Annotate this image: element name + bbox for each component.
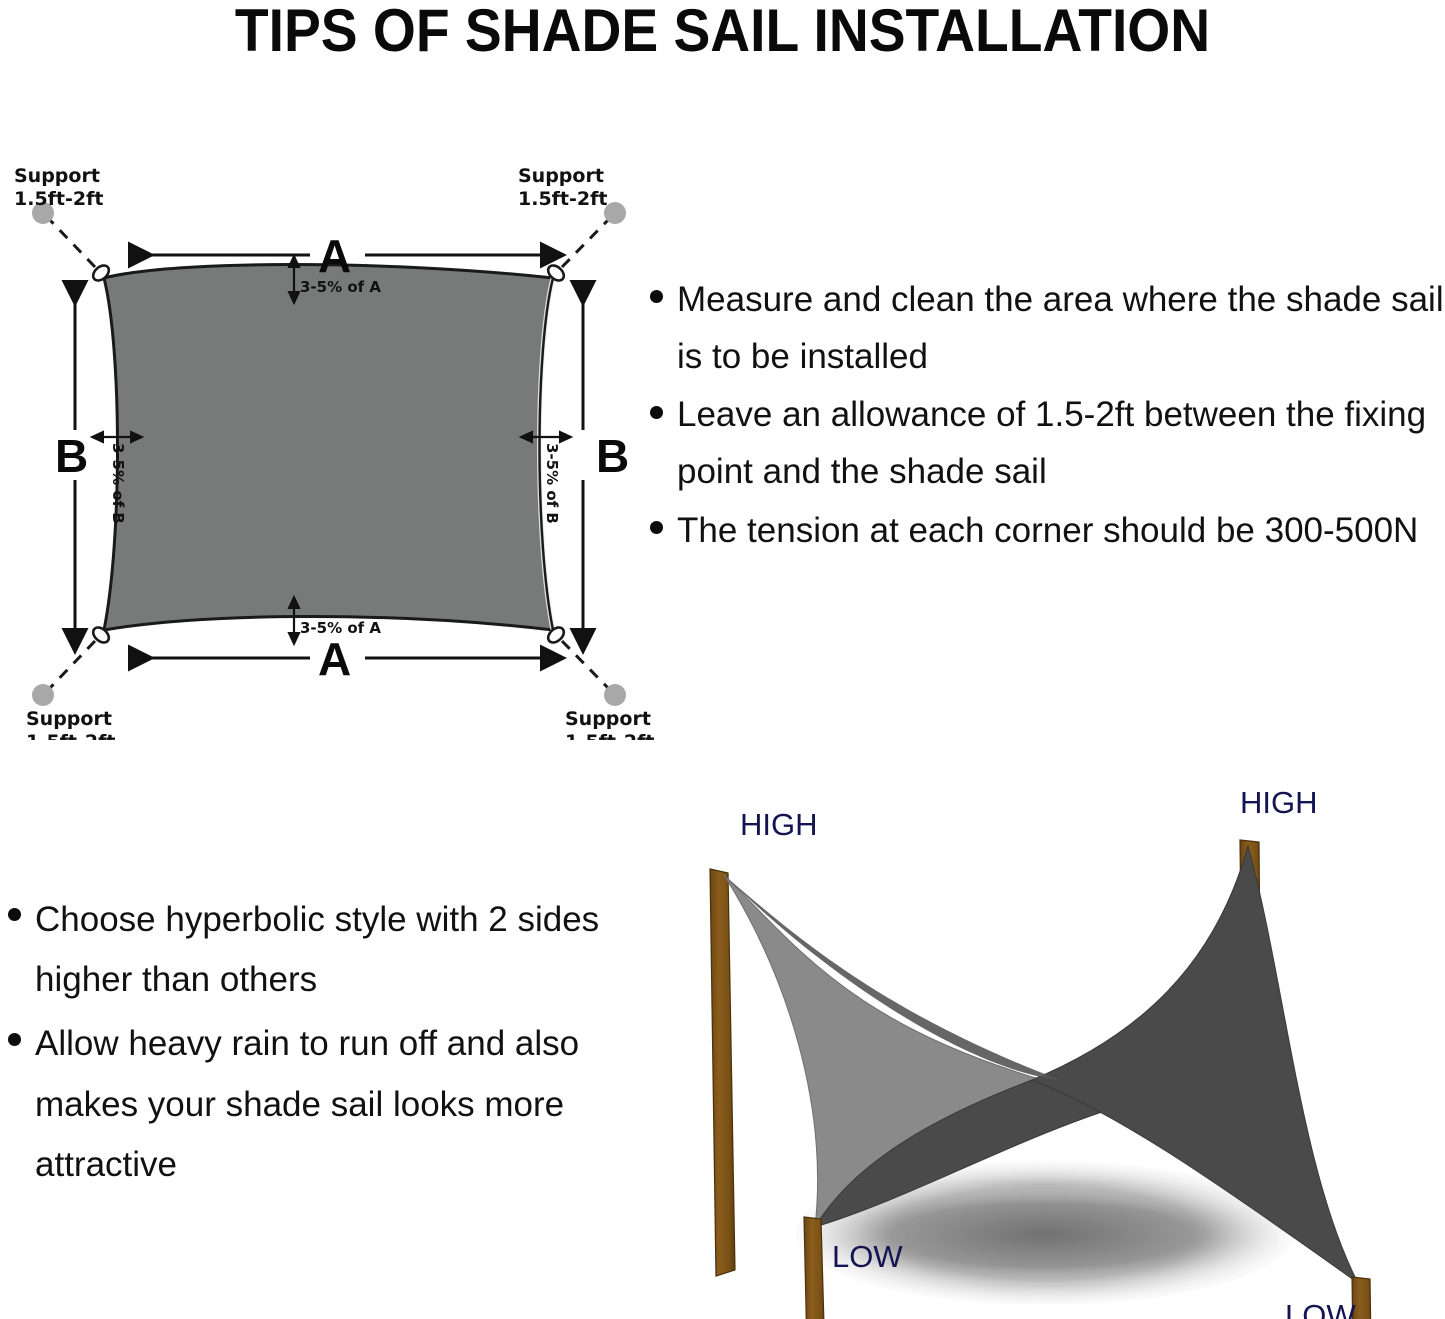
label-low-right: LOW [1285, 1298, 1356, 1319]
list-item: Choose hyperbolic style with 2 sides hig… [8, 890, 628, 1010]
label-low-left: LOW [832, 1239, 903, 1274]
sag-label-left: 3-5% of B [109, 443, 127, 524]
post-left-high [710, 869, 735, 1276]
bullet-dot-icon [650, 521, 663, 534]
hyperbolic-sail-diagram: HIGH HIGH LOW LOW [640, 780, 1445, 1319]
dimension-label-b-right: B [596, 430, 629, 482]
support-label-line1: Support [565, 708, 651, 730]
support-label-top-right: Support 1.5ft-2ft [518, 165, 607, 210]
list-item-text: Leave an allowance of 1.5-2ft between th… [677, 387, 1445, 500]
infographic-page: TIPS OF SHADE SAIL INSTALLATION [0, 0, 1445, 1319]
rectangular-sail-diagram: Support 1.5ft-2ft Support 1.5ft-2ft Supp… [0, 160, 660, 740]
list-item: The tension at each corner should be 300… [650, 503, 1445, 560]
dimension-label-a-bottom: A [318, 633, 351, 685]
support-label-line1: Support [14, 165, 100, 187]
bullet-dot-icon [650, 406, 663, 419]
support-label-top-left: Support 1.5ft-2ft [14, 165, 103, 210]
list-item-text: Allow heavy rain to run off and also mak… [35, 1014, 628, 1195]
support-label-bottom-right: Support 1.5ft-2ft [565, 708, 654, 740]
page-title: TIPS OF SHADE SAIL INSTALLATION [58, 0, 1387, 65]
support-label-line2: 1.5ft-2ft [14, 188, 103, 210]
support-label-bottom-left: Support 1.5ft-2ft [26, 708, 115, 740]
bullet-dot-icon [650, 290, 663, 303]
sail-shape [104, 265, 553, 631]
support-label-line2: 1.5ft-2ft [518, 188, 607, 210]
sag-label-right: 3-5% of B [543, 443, 561, 524]
label-high-left: HIGH [740, 807, 818, 842]
list-item: Leave an allowance of 1.5-2ft between th… [650, 387, 1445, 500]
bullet-dot-icon [8, 908, 21, 921]
list-item-text: Measure and clean the area where the sha… [677, 272, 1445, 385]
list-item-text: The tension at each corner should be 300… [677, 503, 1445, 560]
dimension-label-b-left: B [55, 430, 88, 482]
label-high-right: HIGH [1240, 785, 1318, 820]
list-item: Measure and clean the area where the sha… [650, 272, 1445, 385]
support-label-line1: Support [26, 708, 112, 730]
support-label-line2: 1.5ft-2ft [26, 731, 115, 740]
support-label-line2: 1.5ft-2ft [565, 731, 654, 740]
support-label-line1: Support [518, 165, 604, 187]
tips-list-bottom: Choose hyperbolic style with 2 sides hig… [8, 890, 628, 1199]
dimension-label-a-top: A [318, 230, 351, 282]
sag-label-bottom: 3-5% of A [300, 619, 381, 637]
list-item-text: Choose hyperbolic style with 2 sides hig… [35, 890, 628, 1010]
list-item: Allow heavy rain to run off and also mak… [8, 1014, 628, 1195]
sag-label-top: 3-5% of A [300, 278, 381, 296]
tips-list-right: Measure and clean the area where the sha… [650, 272, 1445, 561]
bullet-dot-icon [8, 1033, 21, 1046]
